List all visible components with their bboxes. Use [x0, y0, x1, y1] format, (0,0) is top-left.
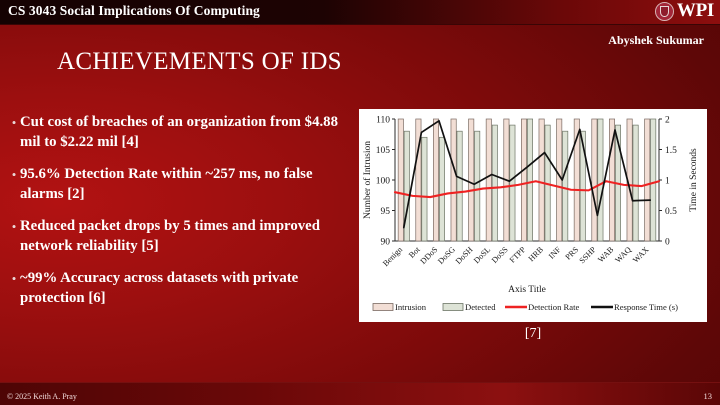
bar-intrusion [469, 119, 474, 241]
presentation-slide: CS 3043 Social Implications Of Computing… [0, 0, 720, 405]
bar-intrusion [486, 119, 491, 241]
x-axis-category-label: DoSH [454, 245, 475, 266]
bullet-marker-icon: • [8, 217, 20, 237]
x-axis-category-label: DDoS [419, 245, 440, 266]
bar-intrusion [557, 119, 562, 241]
bar-intrusion [521, 119, 526, 241]
bullet-marker-icon: • [8, 269, 20, 289]
bar-detected [457, 131, 462, 241]
bar-detected [475, 131, 480, 241]
bar-intrusion [433, 119, 438, 241]
bar-intrusion [451, 119, 456, 241]
y-axis-title: Number of Intrusion [362, 141, 373, 219]
bar-intrusion [592, 119, 597, 241]
bullet-text: ~99% Accuracy across datasets with priva… [20, 269, 348, 308]
wpi-logo: WPI [655, 1, 714, 21]
legend-item-response-time: Response Time (s) [591, 302, 678, 312]
page-number: 13 [704, 391, 713, 401]
bar-detected [422, 137, 427, 241]
legend-swatch [373, 304, 393, 311]
bar-intrusion [398, 119, 403, 241]
bullet-text: Cut cost of breaches of an organization … [20, 113, 348, 152]
legend-label: Detection Rate [528, 302, 579, 312]
y2-axis-tick-label: 1.5 [665, 146, 677, 156]
page-title: ACHIEVEMENTS OF IDS [57, 48, 342, 76]
x-axis-title: Axis Title [508, 285, 546, 295]
ids-performance-chart: 909510010511000.511.52Number of Intrusio… [359, 109, 707, 322]
legend-item-intrusion: Intrusion [373, 302, 427, 312]
presenter-name: Abyshek Sukumar [608, 33, 704, 48]
legend-item-detection-rate: Detection Rate [505, 302, 579, 312]
copyright-text: © 2025 Keith A. Pray [7, 392, 77, 401]
slide-footer-bar: © 2025 Keith A. Pray 13 [0, 382, 720, 405]
y2-axis-title: Time in Seconds [689, 148, 699, 212]
legend-label: Intrusion [395, 302, 427, 312]
bar-intrusion [539, 119, 544, 241]
bar-detected [439, 137, 444, 241]
bar-detected [563, 131, 568, 241]
list-item: • 95.6% Detection Rate within ~257 ms, n… [8, 165, 348, 204]
list-item: • Reduced packet drops by 5 times and im… [8, 217, 348, 256]
bar-intrusion [645, 119, 650, 241]
y-axis-tick-label: 110 [376, 115, 390, 125]
bar-detected [598, 119, 603, 241]
slide-header-bar: CS 3043 Social Implications Of Computing… [0, 0, 720, 25]
x-axis-category-label: FTPP [508, 245, 528, 265]
x-axis-category-label: HRB [527, 245, 546, 264]
x-axis-category-label: DoSG [436, 245, 457, 266]
y-axis-tick-label: 95 [381, 207, 391, 217]
x-axis-category-label: DoSL [472, 245, 492, 265]
y-axis-tick-label: 100 [376, 176, 391, 186]
x-axis-category-label: SSHP [578, 245, 599, 266]
chart-citation: [7] [359, 326, 707, 342]
x-axis-category-label: WAX [631, 245, 651, 265]
list-item: • Cut cost of breaches of an organizatio… [8, 113, 348, 152]
wpi-logo-text: WPI [677, 1, 714, 21]
chart-panel: 909510010511000.511.52Number of Intrusio… [359, 109, 707, 322]
y2-axis-tick-label: 2 [665, 115, 670, 125]
bar-detected [633, 125, 638, 241]
bullet-list: • Cut cost of breaches of an organizatio… [8, 113, 348, 321]
legend-swatch [443, 304, 463, 311]
bullet-text: Reduced packet drops by 5 times and impr… [20, 217, 348, 256]
bullet-marker-icon: • [8, 113, 20, 133]
bar-detected [527, 119, 532, 241]
legend-label: Detected [465, 302, 496, 312]
bar-detected [510, 125, 515, 241]
x-axis-category-label: WAB [596, 245, 616, 265]
bar-detected [651, 119, 656, 241]
y2-axis-tick-label: 0 [665, 237, 670, 247]
x-axis-category-label: INF [547, 245, 563, 261]
y2-axis-tick-label: 0.5 [665, 207, 677, 217]
bullet-text: 95.6% Detection Rate within ~257 ms, no … [20, 165, 348, 204]
list-item: • ~99% Accuracy across datasets with pri… [8, 269, 348, 308]
bullet-marker-icon: • [8, 165, 20, 185]
wpi-seal-icon [655, 2, 674, 21]
y2-axis-tick-label: 1 [665, 176, 670, 186]
y-axis-tick-label: 105 [376, 146, 391, 156]
legend-label: Response Time (s) [614, 302, 678, 312]
bar-detected [492, 125, 497, 241]
y-axis-tick-label: 90 [381, 237, 391, 247]
x-axis-category-label: DoSS [490, 245, 510, 265]
x-axis-category-label: WAQ [613, 245, 633, 265]
x-axis-category-label: Benign [381, 245, 404, 268]
course-title: CS 3043 Social Implications Of Computing [8, 3, 260, 19]
legend-item-detected: Detected [443, 302, 496, 312]
